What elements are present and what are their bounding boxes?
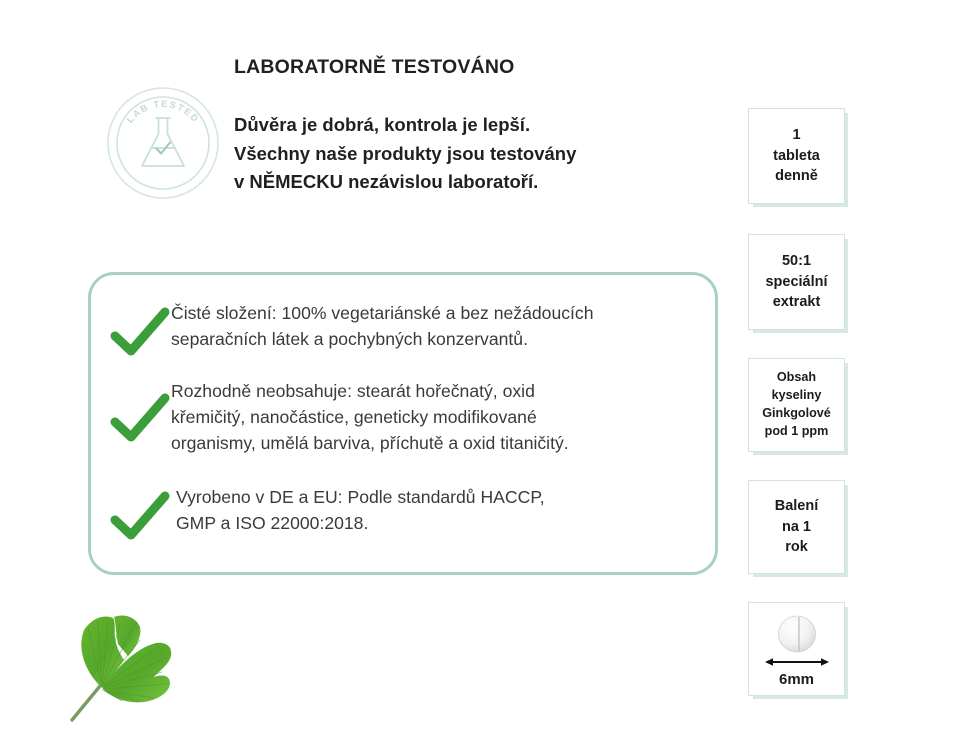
list-item: Čisté složení: 100% vegetariánské a bez … <box>109 299 699 361</box>
list-item: Rozhodně neobsahuje: stearát hořečnatý, … <box>109 377 699 457</box>
header-block: LABORATORNĚ TESTOVÁNO Důvěra je dobrá, k… <box>234 56 714 196</box>
tablet-size-illustration: 6mm <box>760 611 834 687</box>
info-line: Ginkgolové <box>762 405 831 423</box>
ginkgo-leaf-icon <box>58 604 190 728</box>
tablet-icon <box>760 613 834 669</box>
info-line: 50:1 <box>765 251 827 272</box>
info-line: denně <box>773 166 820 187</box>
info-box-tablet-size: 6mm <box>748 602 845 696</box>
info-box-extract: 50:1 speciální extrakt <box>748 234 845 330</box>
info-box-supply: Balení na 1 rok <box>748 480 845 574</box>
claims-box: Čisté složení: 100% vegetariánské a bez … <box>88 272 718 575</box>
tablet-dimension-label: 6mm <box>779 672 814 687</box>
check-icon <box>109 391 171 447</box>
lab-tested-badge-text: LAB TESTED <box>124 98 202 125</box>
header-description: Důvěra je dobrá, kontrola je lepší. Všec… <box>234 111 714 195</box>
info-box-dosage: 1 tableta denně <box>748 108 845 204</box>
info-line: rok <box>775 537 819 558</box>
claim-line: organismy, umělá barviva, příchutě a oxi… <box>171 431 569 457</box>
info-box-ginkgolic-acid: Obsah kyseliny Ginkgolové pod 1 ppm <box>748 358 845 452</box>
info-line: kyseliny <box>762 387 831 405</box>
flask-check-icon <box>142 118 184 166</box>
claim-text: Čisté složení: 100% vegetariánské a bez … <box>171 299 594 353</box>
claim-text: Rozhodně neobsahuje: stearát hořečnatý, … <box>171 377 569 457</box>
check-icon <box>109 305 171 361</box>
info-line: tableta <box>773 146 820 167</box>
lab-tested-badge: LAB TESTED <box>104 84 222 202</box>
list-item: Vyrobeno v DE a EU: Podle standardů HACC… <box>109 483 699 545</box>
check-icon <box>109 489 171 545</box>
header-line-3: v NĚMECKU nezávislou laboratoří. <box>234 168 714 196</box>
info-box-text: 1 tableta denně <box>771 121 822 191</box>
info-box-text: Balení na 1 rok <box>773 492 821 562</box>
product-info-graphic: LAB TESTED LABORATORNĚ TESTOVÁNO Důvěra … <box>0 0 980 735</box>
info-line: speciální <box>765 272 827 293</box>
info-line: Balení <box>775 496 819 517</box>
claim-line: Rozhodně neobsahuje: stearát hořečnatý, … <box>171 379 569 405</box>
claim-line: křemičitý, nanočástice, geneticky modifi… <box>171 405 569 431</box>
info-line: na 1 <box>775 517 819 538</box>
info-line: pod 1 ppm <box>762 423 831 441</box>
info-line: extrakt <box>765 292 827 313</box>
header-line-1: Důvěra je dobrá, kontrola je lepší. <box>234 111 714 139</box>
claim-line: separačních látek a pochybných konzervan… <box>171 327 594 353</box>
info-line: Obsah <box>762 369 831 387</box>
page-title: LABORATORNĚ TESTOVÁNO <box>234 56 714 79</box>
claim-line: Čisté složení: 100% vegetariánské a bez … <box>171 301 594 327</box>
header-line-2: Všechny naše produkty jsou testovány <box>234 140 714 168</box>
claim-text: Vyrobeno v DE a EU: Podle standardů HACC… <box>171 483 545 537</box>
claim-line: GMP a ISO 22000:2018. <box>176 511 545 537</box>
info-box-text: Obsah kyseliny Ginkgolové pod 1 ppm <box>760 365 833 445</box>
info-line: 1 <box>773 125 820 146</box>
claim-line: Vyrobeno v DE a EU: Podle standardů HACC… <box>176 485 545 511</box>
info-box-text: 50:1 speciální extrakt <box>763 247 829 317</box>
